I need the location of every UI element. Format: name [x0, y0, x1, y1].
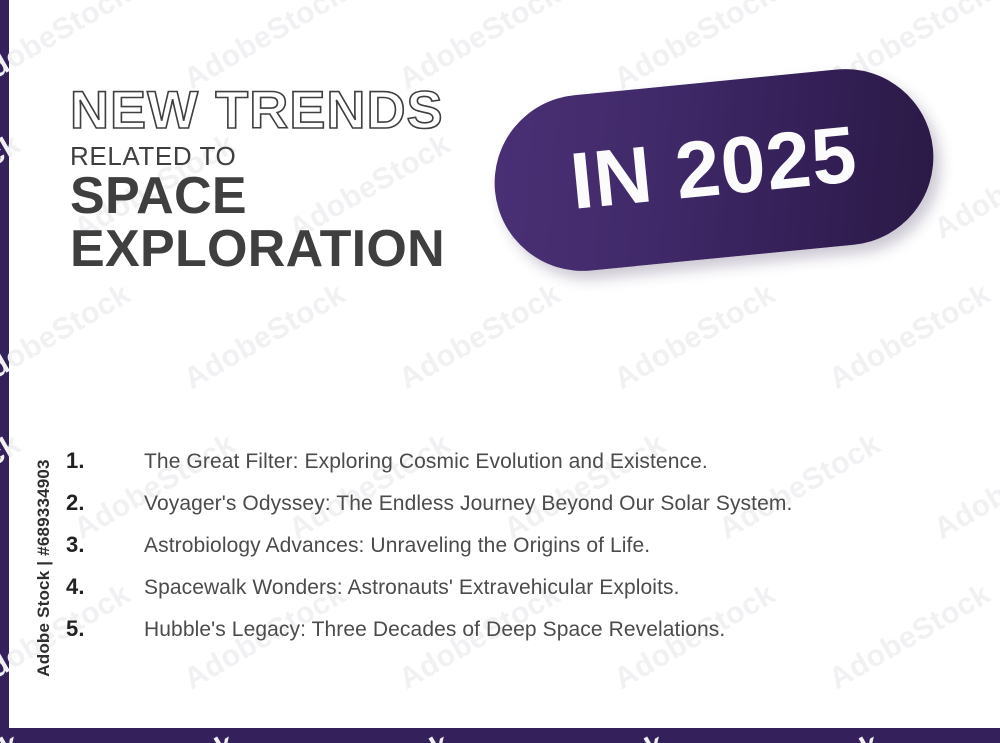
stock-credit: Adobe Stock | #689334903: [34, 458, 54, 678]
list-item: 4.Spacewalk Wonders: Astronauts' Extrave…: [66, 574, 936, 616]
poster-canvas: AdobeStockAdobeStockAdobeStockAdobeStock…: [0, 0, 1000, 743]
year-badge-pill: IN 2025: [486, 61, 941, 279]
list-item: 2.Voyager's Odyssey: The Endless Journey…: [66, 490, 936, 532]
list-item-text: Astrobiology Advances: Unraveling the Or…: [144, 534, 650, 558]
year-badge-label: IN 2025: [567, 114, 861, 222]
list-item-text: The Great Filter: Exploring Cosmic Evolu…: [144, 450, 708, 474]
headline-block: NEW TRENDS RELATED TO SPACE EXPLORATION: [70, 86, 445, 276]
year-badge: IN 2025: [486, 61, 941, 279]
list-item-number: 4.: [66, 574, 144, 600]
headline-main-line-2: EXPLORATION: [70, 223, 445, 276]
list-item-number: 3.: [66, 532, 144, 558]
list-item: 1.The Great Filter: Exploring Cosmic Evo…: [66, 448, 936, 490]
list-item-text: Voyager's Odyssey: The Endless Journey B…: [144, 492, 792, 516]
headline-main-line-1: SPACE: [70, 170, 445, 223]
trend-list: 1.The Great Filter: Exploring Cosmic Evo…: [66, 448, 936, 658]
outline-title: NEW TRENDS: [70, 86, 453, 137]
list-item-number: 5.: [66, 616, 144, 642]
headline-kicker: RELATED TO: [70, 143, 445, 170]
list-item: 3.Astrobiology Advances: Unraveling the …: [66, 532, 936, 574]
list-item-number: 1.: [66, 448, 144, 474]
list-item-text: Spacewalk Wonders: Astronauts' Extravehi…: [144, 576, 680, 600]
list-item: 5.Hubble's Legacy: Three Decades of Deep…: [66, 616, 936, 658]
list-item-text: Hubble's Legacy: Three Decades of Deep S…: [144, 618, 725, 642]
poster-content: NEW TRENDS RELATED TO SPACE EXPLORATION …: [0, 0, 1000, 743]
list-item-number: 2.: [66, 490, 144, 516]
